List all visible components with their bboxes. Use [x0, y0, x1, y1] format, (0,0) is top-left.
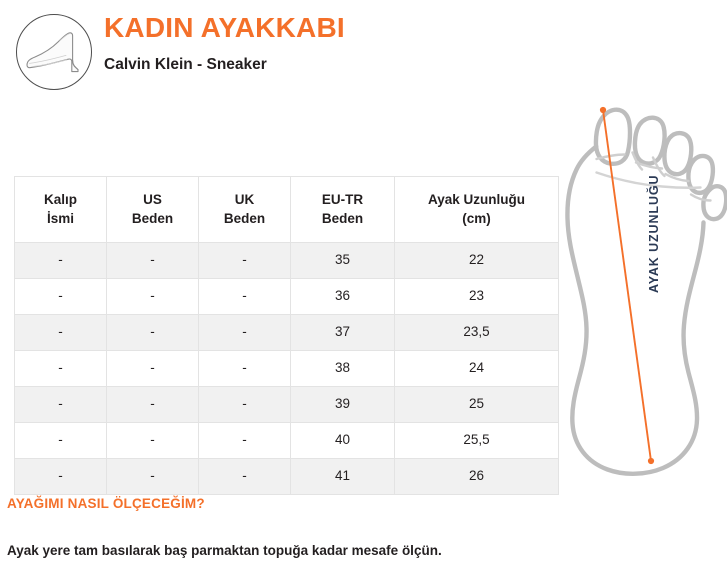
cell-kalip-ismi: -	[15, 459, 107, 495]
page-title: KADIN AYAKKABI	[104, 11, 534, 45]
cell-kalip-ismi: -	[15, 387, 107, 423]
column-header-eu-tr-beden: EU-TR Beden	[291, 177, 395, 243]
header-line-2: Beden	[293, 209, 392, 228]
cell-us-beden: -	[107, 459, 199, 495]
cell-uk-beden: -	[199, 387, 291, 423]
cell-eu-tr-beden: 40	[291, 423, 395, 459]
cell-uk-beden: -	[199, 315, 291, 351]
column-header-ayak-uzunlugu: Ayak Uzunluğu (cm)	[395, 177, 559, 243]
cell-us-beden: -	[107, 315, 199, 351]
high-heel-shoe-icon	[16, 14, 92, 90]
table-header-row: Kalıp İsmi US Beden UK Beden EU-TR Beden…	[15, 177, 559, 243]
header-line-1: EU-TR	[293, 190, 392, 209]
column-header-us-beden: US Beden	[107, 177, 199, 243]
header-line-2: (cm)	[397, 209, 556, 228]
cell-us-beden: -	[107, 351, 199, 387]
table-row: - - - 37 23,5	[15, 315, 559, 351]
cell-eu-tr-beden: 35	[291, 243, 395, 279]
column-header-uk-beden: UK Beden	[199, 177, 291, 243]
table-row: - - - 41 26	[15, 459, 559, 495]
cell-kalip-ismi: -	[15, 351, 107, 387]
header-line-2: Beden	[201, 209, 288, 228]
table-row: - - - 39 25	[15, 387, 559, 423]
table-row: - - - 36 23	[15, 279, 559, 315]
cell-us-beden: -	[107, 243, 199, 279]
how-to-measure-section: AYAĞIMI NASIL ÖLÇECEĞİM? Ayak yere tam b…	[7, 496, 607, 558]
cell-uk-beden: -	[199, 279, 291, 315]
how-to-measure-heading: AYAĞIMI NASIL ÖLÇECEĞİM?	[7, 496, 607, 511]
header-line-1: Kalıp	[17, 190, 104, 209]
cell-eu-tr-beden: 39	[291, 387, 395, 423]
foot-length-label: AYAK UZUNLUĞU	[641, 193, 667, 293]
header-line-2: İsmi	[17, 209, 104, 228]
table-row: - - - 35 22	[15, 243, 559, 279]
column-header-kalip-ismi: Kalıp İsmi	[15, 177, 107, 243]
cell-kalip-ismi: -	[15, 279, 107, 315]
cell-uk-beden: -	[199, 459, 291, 495]
header-line-1: UK	[201, 190, 288, 209]
header-line-2: Beden	[109, 209, 196, 228]
title-block: KADIN AYAKKABI Calvin Klein - Sneaker	[104, 11, 534, 76]
cell-ayak-uzunlugu: 26	[395, 459, 559, 495]
cell-uk-beden: -	[199, 423, 291, 459]
cell-ayak-uzunlugu: 23	[395, 279, 559, 315]
cell-ayak-uzunlugu: 24	[395, 351, 559, 387]
page-header: KADIN AYAKKABI Calvin Klein - Sneaker	[0, 0, 727, 100]
cell-eu-tr-beden: 37	[291, 315, 395, 351]
table-row: - - - 40 25,5	[15, 423, 559, 459]
cell-ayak-uzunlugu: 22	[395, 243, 559, 279]
table-row: - - - 38 24	[15, 351, 559, 387]
cell-kalip-ismi: -	[15, 423, 107, 459]
cell-us-beden: -	[107, 387, 199, 423]
cell-ayak-uzunlugu: 25	[395, 387, 559, 423]
cell-ayak-uzunlugu: 23,5	[395, 315, 559, 351]
header-line-1: US	[109, 190, 196, 209]
cell-uk-beden: -	[199, 351, 291, 387]
page-subtitle: Calvin Klein - Sneaker	[104, 54, 534, 76]
foot-sole-diagram	[552, 96, 727, 478]
cell-us-beden: -	[107, 423, 199, 459]
cell-kalip-ismi: -	[15, 315, 107, 351]
header-line-1: Ayak Uzunluğu	[397, 190, 556, 209]
cell-eu-tr-beden: 38	[291, 351, 395, 387]
cell-uk-beden: -	[199, 243, 291, 279]
cell-us-beden: -	[107, 279, 199, 315]
cell-ayak-uzunlugu: 25,5	[395, 423, 559, 459]
how-to-measure-text: Ayak yere tam basılarak baş parmaktan to…	[7, 543, 607, 558]
cell-eu-tr-beden: 36	[291, 279, 395, 315]
size-chart-table: Kalıp İsmi US Beden UK Beden EU-TR Beden…	[14, 176, 559, 495]
cell-eu-tr-beden: 41	[291, 459, 395, 495]
cell-kalip-ismi: -	[15, 243, 107, 279]
